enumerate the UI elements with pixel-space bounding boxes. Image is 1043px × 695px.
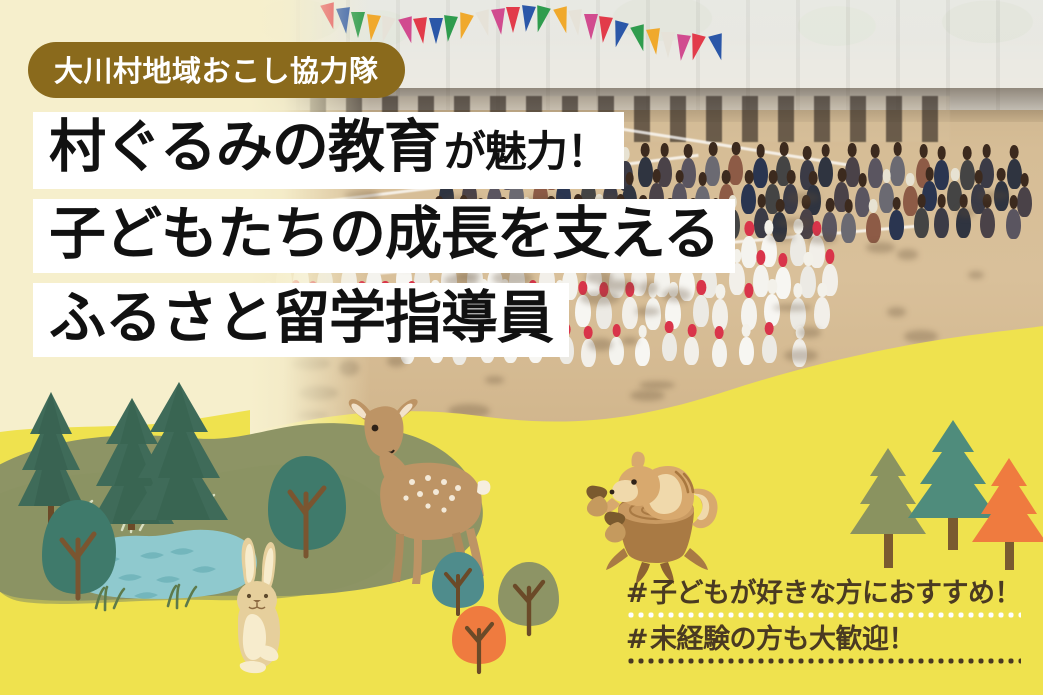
crowd-person [800,266,816,298]
hash-mark-icon: # [626,624,648,655]
headline-row: 子どもたちの成長を支える [33,199,735,283]
crowd-person [1017,187,1032,217]
headline-main-1: 村ぐるみの教育 [49,118,440,176]
crowd-person [753,265,769,297]
crowd-person [775,267,791,299]
crowd-person [914,208,929,238]
headline-block: 村ぐるみの教育 が魅力！ 子どもたちの成長を支える ふるさと留学指導員 [33,112,735,367]
crowd-person [818,157,833,187]
crowd-person [841,213,856,243]
hash-mark-icon: # [626,578,648,609]
crowd-person [879,183,894,213]
headline-line-2: 子どもたちの成長を支える [33,199,735,273]
crowd-person [1007,159,1022,189]
crowd-person [866,213,881,243]
bunting-flag [584,14,598,40]
ground-shadow [968,271,984,279]
crowd-person [1006,209,1021,239]
ground-shadow [773,304,811,311]
crowd-person [960,160,975,190]
headline-row: 村ぐるみの教育 が魅力！ [33,112,735,199]
hashtag-text-1: 子どもが好きな方におすすめ！ [650,578,1021,609]
hashtag-text-2: 未経験の方も大歓迎！ [650,624,915,655]
ground-shadow [776,218,811,228]
ground-shadow [977,191,1010,200]
crowd-person [845,157,860,187]
headline-line-1: 村ぐるみの教育 が魅力！ [33,112,624,189]
ground-shadow [786,192,820,203]
ground-shadow [866,242,895,253]
ground-shadow [897,249,919,259]
bunting-flag [506,7,520,33]
headline-main-2: 子どもたちの成長を支える [49,205,719,263]
crowd-person [741,236,757,268]
crowd-person [890,156,905,186]
hashtag-line-2: #未経験の方も大歓迎！ [626,625,1021,655]
crowd-person [868,158,883,188]
organization-badge: 大川村地域おこし協力隊 [28,42,405,98]
hashtag-line-1: #子どもが好きな方におすすめ！ [626,579,1021,609]
poster-canvas: 大川村地域おこし協力隊 村ぐるみの教育 が魅力！ 子どもたちの成長を支える ふる… [0,0,1043,695]
bunting-flag [708,34,728,63]
headline-sub-1: が魅力！ [444,118,608,179]
hashtag-block: #子どもが好きな方におすすめ！ #未経験の方も大歓迎！ [626,579,1021,671]
headline-line-3: ふるさと留学指導員 [33,283,569,357]
ground-shadow [767,234,796,242]
crowd-person [753,158,768,188]
headline-main-3: ふるさと留学指導員 [49,289,553,347]
crowd-person [934,208,949,238]
ground-shadow [806,234,837,245]
crowd-person [889,210,904,240]
hashtag-underline-1 [626,612,1021,618]
ground-shadow [957,207,976,218]
crowd-person [741,184,756,214]
crowd-person [980,208,995,238]
bunting-flag [661,32,675,58]
crowd-person [934,160,949,190]
hashtag-underline-2 [626,658,1021,664]
headline-row: ふるさと留学指導員 [33,283,735,367]
crowd-person [855,187,870,217]
